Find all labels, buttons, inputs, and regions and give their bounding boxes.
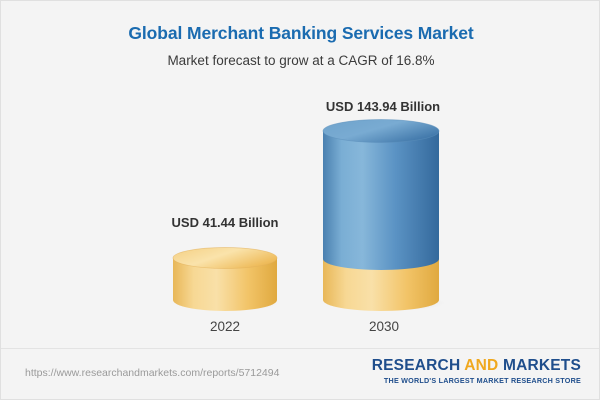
logo-text-research: RESEARCH [372,357,465,374]
logo-tagline: THE WORLD'S LARGEST MARKET RESEARCH STOR… [372,376,581,385]
chart-card: Global Merchant Banking Services Market … [0,0,600,400]
bar-2030 [321,119,447,316]
logo-wordmark: RESEARCH AND MARKETS [372,358,581,374]
research-and-markets-logo[interactable]: RESEARCH AND MARKETS THE WORLD'S LARGEST… [372,358,581,385]
bar-2022 [171,247,279,316]
data-label-2022: USD 41.44 Billion [121,215,329,230]
report-url-link[interactable]: https://www.researchandmarkets.com/repor… [25,367,279,379]
footer-divider [1,348,600,349]
data-label-2030: USD 143.94 Billion [279,99,487,114]
chart-plot-area: USD 41.44 Billion 2022 [1,1,600,346]
category-label-2030: 2030 [284,319,484,334]
logo-text-markets: MARKETS [498,357,581,374]
logo-text-and: AND [464,357,498,374]
